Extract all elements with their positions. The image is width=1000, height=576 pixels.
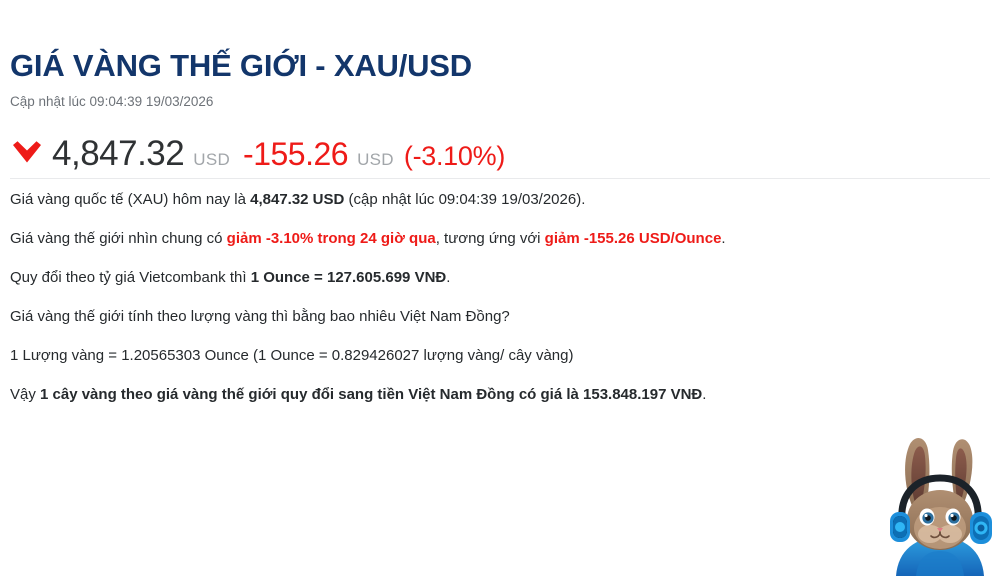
paragraph-change-24h: Giá vàng thế giới nhìn chung có giảm -3.… [10, 229, 975, 248]
last-updated-text: Cập nhật lúc 09:04:39 19/03/2026 [10, 86, 970, 111]
p6-bold-conclusion: 1 cây vàng theo giá vàng thế giới quy đổ… [40, 386, 702, 403]
p3-post: . [446, 269, 450, 286]
gold-price-widget: GIÁ VÀNG THẾ GIỚI - XAU/USD Cập nhật lúc… [0, 0, 1000, 576]
price-change-value: -155.26 [243, 134, 348, 174]
header: GIÁ VÀNG THẾ GIỚI - XAU/USD Cập nhật lúc… [10, 46, 970, 111]
p2-post: . [721, 230, 725, 247]
price-currency-label: USD [193, 140, 230, 180]
description-body: Giá vàng quốc tế (XAU) hôm nay là 4,847.… [10, 190, 975, 404]
paragraph-conclusion: Vậy 1 cây vàng theo giá vàng thế giới qu… [10, 385, 975, 404]
p2-change-amount-highlight: giảm -155.26 USD/Ounce [545, 230, 722, 247]
price-value: 4,847.32 [52, 134, 184, 174]
section-divider [10, 178, 990, 179]
p1-post: (cập nhật lúc 09:04:39 19/03/2026). [344, 191, 585, 208]
p3-bold-conversion: 1 Ounce = 127.605.699 VNĐ [251, 269, 447, 286]
caret-down-icon [10, 137, 44, 171]
p2-pre: Giá vàng thế giới nhìn chung có [10, 230, 227, 247]
p1-bold-price: 4,847.32 USD [250, 191, 344, 208]
paragraph-luong-conversion: 1 Lượng vàng = 1.20565303 Ounce (1 Ounce… [10, 346, 975, 365]
p2-mid: , tương ứng với [436, 230, 545, 247]
p3-pre: Quy đổi theo tỷ giá Vietcombank thì [10, 269, 251, 286]
page-title: GIÁ VÀNG THẾ GIỚI - XAU/USD [10, 46, 970, 86]
price-change-percent: (-3.10%) [404, 136, 505, 176]
p6-pre: Vậy [10, 386, 40, 403]
paragraph-price-today: Giá vàng quốc tế (XAU) hôm nay là 4,847.… [10, 190, 975, 209]
p1-pre: Giá vàng quốc tế (XAU) hôm nay là [10, 191, 250, 208]
p6-post: . [702, 386, 706, 403]
paragraph-question: Giá vàng thế giới tính theo lượng vàng t… [10, 307, 975, 326]
price-change-currency-label: USD [357, 140, 394, 180]
price-summary-row: 4,847.32 USD -155.26 USD (-3.10%) [10, 131, 505, 180]
p2-change-percent-highlight: giảm -3.10% trong 24 giờ qua [227, 230, 436, 247]
paragraph-vietcombank-rate: Quy đổi theo tỷ giá Vietcombank thì 1 Ou… [10, 268, 975, 287]
rabbit-mascot-icon [880, 424, 1000, 576]
